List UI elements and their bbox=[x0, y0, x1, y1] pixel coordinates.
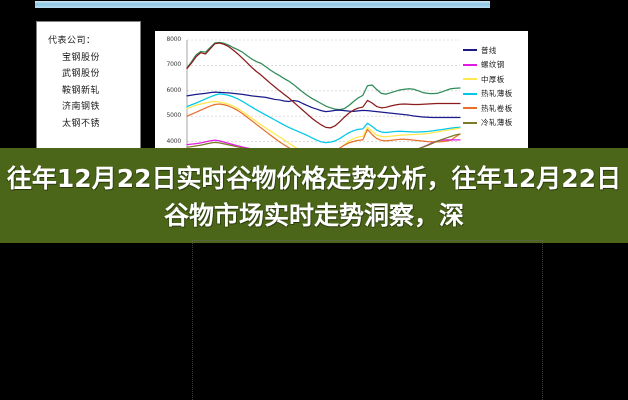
company-item: 济南钢铁 bbox=[46, 99, 100, 116]
company-item: 太钢不锈 bbox=[46, 116, 100, 133]
legend-item[interactable]: 热轧薄板 bbox=[463, 87, 533, 102]
series-line bbox=[187, 94, 460, 143]
legend-item[interactable]: 普线 bbox=[463, 43, 533, 58]
chart-legend: 普线螺纹钢中厚板热轧薄板热轧卷板冷轧薄板 bbox=[463, 43, 533, 130]
legend-item-label: 中厚板 bbox=[481, 74, 505, 85]
steel-price-chart-panel: 800070006000500040003000 普线螺纹钢中厚板热轧薄板热轧卷… bbox=[155, 31, 528, 152]
series-line bbox=[187, 43, 460, 128]
y-axis-tick-label: 7000 bbox=[159, 61, 181, 68]
y-axis-tick-label: 5000 bbox=[159, 112, 181, 119]
chart-area: 800070006000500040003000 普线螺纹钢中厚板热轧薄板热轧卷… bbox=[155, 31, 528, 152]
legend-color-swatch bbox=[463, 64, 477, 66]
overlay-headline: 往年12月22日实时谷物价格走势分析，往年12月22日谷物市场实时走势洞察，深 bbox=[0, 160, 628, 234]
legend-color-swatch bbox=[463, 49, 477, 51]
legend-item-label: 热轧卷板 bbox=[481, 103, 513, 114]
legend-color-swatch bbox=[463, 122, 477, 124]
company-item: 武钢股份 bbox=[46, 66, 100, 83]
company-list-heading: 代表公司： bbox=[46, 33, 100, 50]
legend-color-swatch bbox=[463, 78, 477, 80]
company-item: 鞍钢新轧 bbox=[46, 83, 100, 100]
legend-item[interactable]: 中厚板 bbox=[463, 72, 533, 87]
screenshot-stage: 代表公司： 宝钢股份 武钢股份 鞍钢新轧 济南钢铁 太钢不锈 800070006… bbox=[0, 0, 628, 400]
legend-item[interactable]: 热轧卷板 bbox=[463, 101, 533, 116]
slide-top-strip bbox=[35, 1, 490, 8]
company-list: 代表公司： 宝钢股份 武钢股份 鞍钢新轧 济南钢铁 太钢不锈 bbox=[46, 33, 100, 132]
y-axis-tick-label: 4000 bbox=[159, 138, 181, 145]
legend-item-label: 螺纹钢 bbox=[481, 59, 505, 70]
legend-color-swatch bbox=[463, 93, 477, 95]
company-item: 宝钢股份 bbox=[46, 50, 100, 67]
representative-companies-panel: 代表公司： 宝钢股份 武钢股份 鞍钢新轧 济南钢铁 太钢不锈 bbox=[37, 22, 140, 152]
dotted-placeholder-frame bbox=[192, 240, 543, 400]
legend-item[interactable]: 冷轧薄板 bbox=[463, 116, 533, 131]
legend-item-label: 热轧薄板 bbox=[481, 88, 513, 99]
legend-item-label: 普线 bbox=[481, 45, 497, 56]
y-axis-tick-label: 8000 bbox=[159, 36, 181, 43]
legend-color-swatch bbox=[463, 107, 477, 109]
series-line bbox=[187, 43, 460, 110]
legend-item[interactable]: 螺纹钢 bbox=[463, 58, 533, 73]
legend-item-label: 冷轧薄板 bbox=[481, 117, 513, 128]
y-axis-tick-label: 6000 bbox=[159, 87, 181, 94]
